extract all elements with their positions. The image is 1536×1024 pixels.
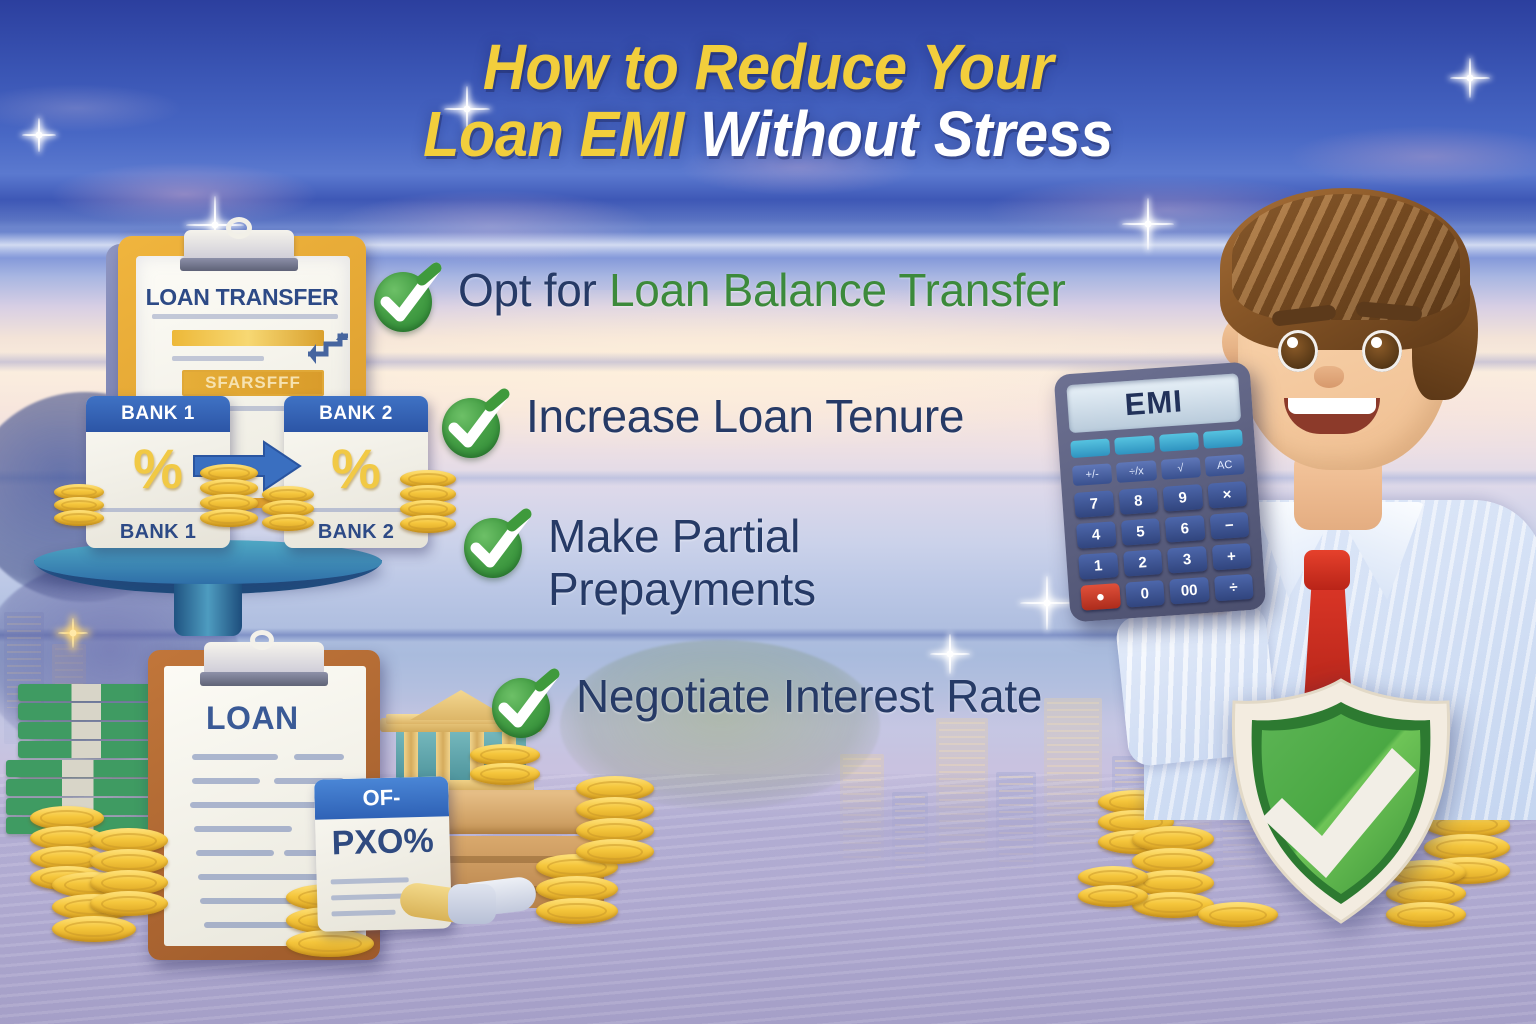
green-check-icon — [372, 268, 436, 332]
necktie-knot — [1304, 550, 1350, 590]
title-highlight-loan-emi: Loan EMI — [423, 98, 684, 170]
calc-key-4[interactable]: 4 — [1076, 521, 1116, 549]
poster-title: How to Reduce Your Loan EMI Without Stre… — [0, 34, 1536, 167]
discount-card-value: PXO% — [315, 816, 450, 867]
green-shield-check-icon — [1216, 672, 1466, 928]
calc-fn2-key[interactable]: AC — [1204, 454, 1245, 477]
green-check-icon — [490, 674, 554, 738]
calc-fn-key[interactable] — [1159, 432, 1199, 452]
list-item-text: Increase Loan Tenure — [526, 390, 964, 443]
calc-key-00[interactable]: 00 — [1169, 577, 1209, 605]
calc-key-7[interactable]: 7 — [1074, 490, 1114, 518]
transfer-arrow-icon — [306, 332, 350, 366]
calculator-function-row-1[interactable] — [1070, 429, 1243, 458]
clipboard-ring — [226, 217, 252, 239]
handshake-icon — [400, 870, 540, 942]
discount-card-header: OF- — [314, 776, 449, 819]
calc-key-9[interactable]: 9 — [1163, 484, 1203, 512]
list-item-text: Make Partial Prepayments — [548, 510, 816, 617]
list-item-text: Negotiate Interest Rate — [576, 670, 1042, 723]
calc-key-6[interactable]: 6 — [1165, 515, 1205, 543]
clipboard-clamp-bar — [180, 258, 298, 271]
bank-card-1-header: BANK 1 — [86, 396, 230, 432]
calc-key-1[interactable]: 1 — [1078, 552, 1118, 580]
calc-key-5[interactable]: 5 — [1120, 518, 1160, 546]
clipboard-stamp: SFARSFFF — [182, 370, 324, 396]
list-item-prefix: Opt for — [458, 264, 609, 316]
eye-right — [1362, 330, 1402, 372]
hair — [1220, 188, 1470, 350]
title-line-2-rest: Without Stress — [684, 98, 1113, 170]
title-line-1: How to Reduce Your — [54, 34, 1482, 101]
emi-calculator[interactable]: EMI +/- ÷/x √ AC 7 8 9 × 4 5 6 − 1 2 3 +… — [1054, 361, 1267, 622]
calc-key-minus[interactable]: − — [1209, 512, 1249, 540]
balance-pedestal — [34, 540, 382, 630]
calculator-function-row-2[interactable]: +/- ÷/x √ AC — [1072, 454, 1245, 486]
calc-key-2[interactable]: 2 — [1123, 549, 1163, 577]
calc-fn-key[interactable] — [1114, 435, 1154, 455]
eye-left — [1278, 330, 1318, 372]
calc-key-multiply[interactable]: × — [1207, 481, 1247, 509]
calc-fn2-key[interactable]: ÷/x — [1116, 460, 1157, 483]
calc-key-0[interactable]: 0 — [1125, 580, 1165, 608]
loan-clipboard-title: LOAN — [206, 700, 299, 737]
title-line-2: Loan EMI Without Stress — [54, 101, 1482, 168]
list-item[interactable]: Increase Loan Tenure — [440, 390, 964, 458]
calc-fn2-key[interactable]: √ — [1160, 457, 1201, 480]
list-item-highlight: Loan Balance Transfer — [609, 264, 1066, 316]
bank-card-2-header: BANK 2 — [284, 396, 428, 432]
sparkle-icon — [930, 634, 970, 674]
list-item-text: Opt for Loan Balance Transfer — [458, 264, 1066, 317]
calc-fn2-key[interactable]: +/- — [1072, 463, 1113, 486]
calc-key-plus[interactable]: + — [1211, 543, 1251, 571]
calculator-display: EMI — [1066, 373, 1241, 433]
green-check-icon — [462, 514, 526, 578]
clipboard-title: LOAN TRANSFER — [146, 284, 339, 311]
calc-key-8[interactable]: 8 — [1118, 487, 1158, 515]
list-item[interactable]: Negotiate Interest Rate — [490, 670, 1042, 738]
nose — [1314, 366, 1344, 388]
calc-key-divide[interactable]: ÷ — [1214, 574, 1254, 602]
list-item[interactable]: Make Partial Prepayments — [462, 510, 816, 617]
calc-fn-key[interactable] — [1070, 438, 1110, 458]
calc-key-clear[interactable]: ● — [1080, 583, 1120, 611]
green-check-icon — [440, 394, 504, 458]
calc-fn-key[interactable] — [1203, 429, 1243, 449]
list-item[interactable]: Opt for Loan Balance Transfer — [372, 264, 1066, 332]
infographic-poster: How to Reduce Your Loan EMI Without Stre… — [0, 0, 1536, 1024]
calculator-keypad[interactable]: 7 8 9 × 4 5 6 − 1 2 3 + ● 0 00 ÷ — [1074, 481, 1254, 611]
sparkle-icon — [1020, 576, 1074, 630]
calc-key-3[interactable]: 3 — [1167, 546, 1207, 574]
